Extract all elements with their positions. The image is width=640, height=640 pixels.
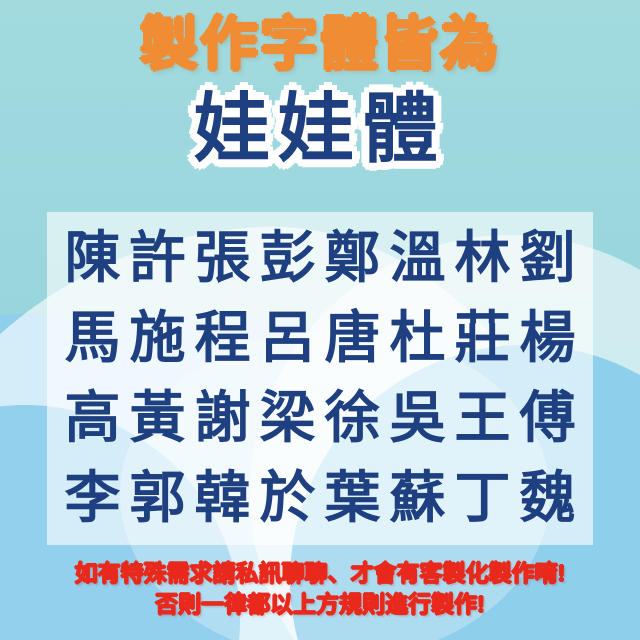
character-cell: 傅: [516, 379, 579, 459]
character-cell: 呂: [256, 299, 319, 379]
character-cell: 郭: [126, 459, 189, 539]
character-cell: 吳: [386, 379, 449, 459]
heading-block: 製作字體皆為 娃娃體: [0, 10, 640, 176]
character-row: 馬 施 程 呂 唐 杜 莊 楊: [47, 299, 593, 379]
character-cell: 梁: [256, 379, 319, 459]
poster-canvas: 製作字體皆為 娃娃體 陳 許 張 彭 鄭 溫 林 劉 馬 施 程 呂 唐 杜 莊…: [0, 0, 640, 640]
character-cell: 王: [451, 379, 514, 459]
footer-notice-line-1: 如有特殊需求請私訊聊聊、才會有客製化製作唷!: [0, 558, 640, 589]
character-cell: 溫: [386, 219, 449, 299]
character-cell: 蘇: [386, 459, 449, 539]
character-row: 陳 許 張 彭 鄭 溫 林 劉: [47, 219, 593, 299]
character-cell: 莊: [451, 299, 514, 379]
character-cell: 劉: [516, 219, 579, 299]
character-cell: 鄭: [321, 219, 384, 299]
character-cell: 陳: [61, 219, 124, 299]
character-cell: 杜: [386, 299, 449, 379]
character-cell: 馬: [61, 299, 124, 379]
character-cell: 葉: [321, 459, 384, 539]
character-row: 高 黃 謝 梁 徐 吳 王 傅: [47, 379, 593, 459]
character-cell: 徐: [321, 379, 384, 459]
character-cell: 林: [451, 219, 514, 299]
character-cell: 彭: [256, 219, 319, 299]
heading-line-primary: 製作字體皆為: [0, 10, 640, 80]
character-cell: 丁: [451, 459, 514, 539]
character-cell: 韓: [191, 459, 254, 539]
character-cell: 謝: [191, 379, 254, 459]
footer-notice-line-2: 否則一律都以上方規則進行製作!: [0, 589, 640, 620]
character-cell: 張: [191, 219, 254, 299]
character-cell: 施: [126, 299, 189, 379]
character-cell: 許: [126, 219, 189, 299]
character-cell: 唐: [321, 299, 384, 379]
character-sample-panel: 陳 許 張 彭 鄭 溫 林 劉 馬 施 程 呂 唐 杜 莊 楊 高 黃 謝 梁 …: [47, 212, 593, 545]
heading-line-font-name: 娃娃體: [0, 84, 640, 176]
character-cell: 魏: [516, 459, 579, 539]
character-row: 李 郭 韓 於 葉 蘇 丁 魏: [47, 459, 593, 539]
character-cell: 高: [61, 379, 124, 459]
character-cell: 於: [256, 459, 319, 539]
character-cell: 楊: [516, 299, 579, 379]
character-cell: 程: [191, 299, 254, 379]
character-cell: 李: [61, 459, 124, 539]
character-cell: 黃: [126, 379, 189, 459]
footer-notice: 如有特殊需求請私訊聊聊、才會有客製化製作唷! 否則一律都以上方規則進行製作!: [0, 558, 640, 620]
